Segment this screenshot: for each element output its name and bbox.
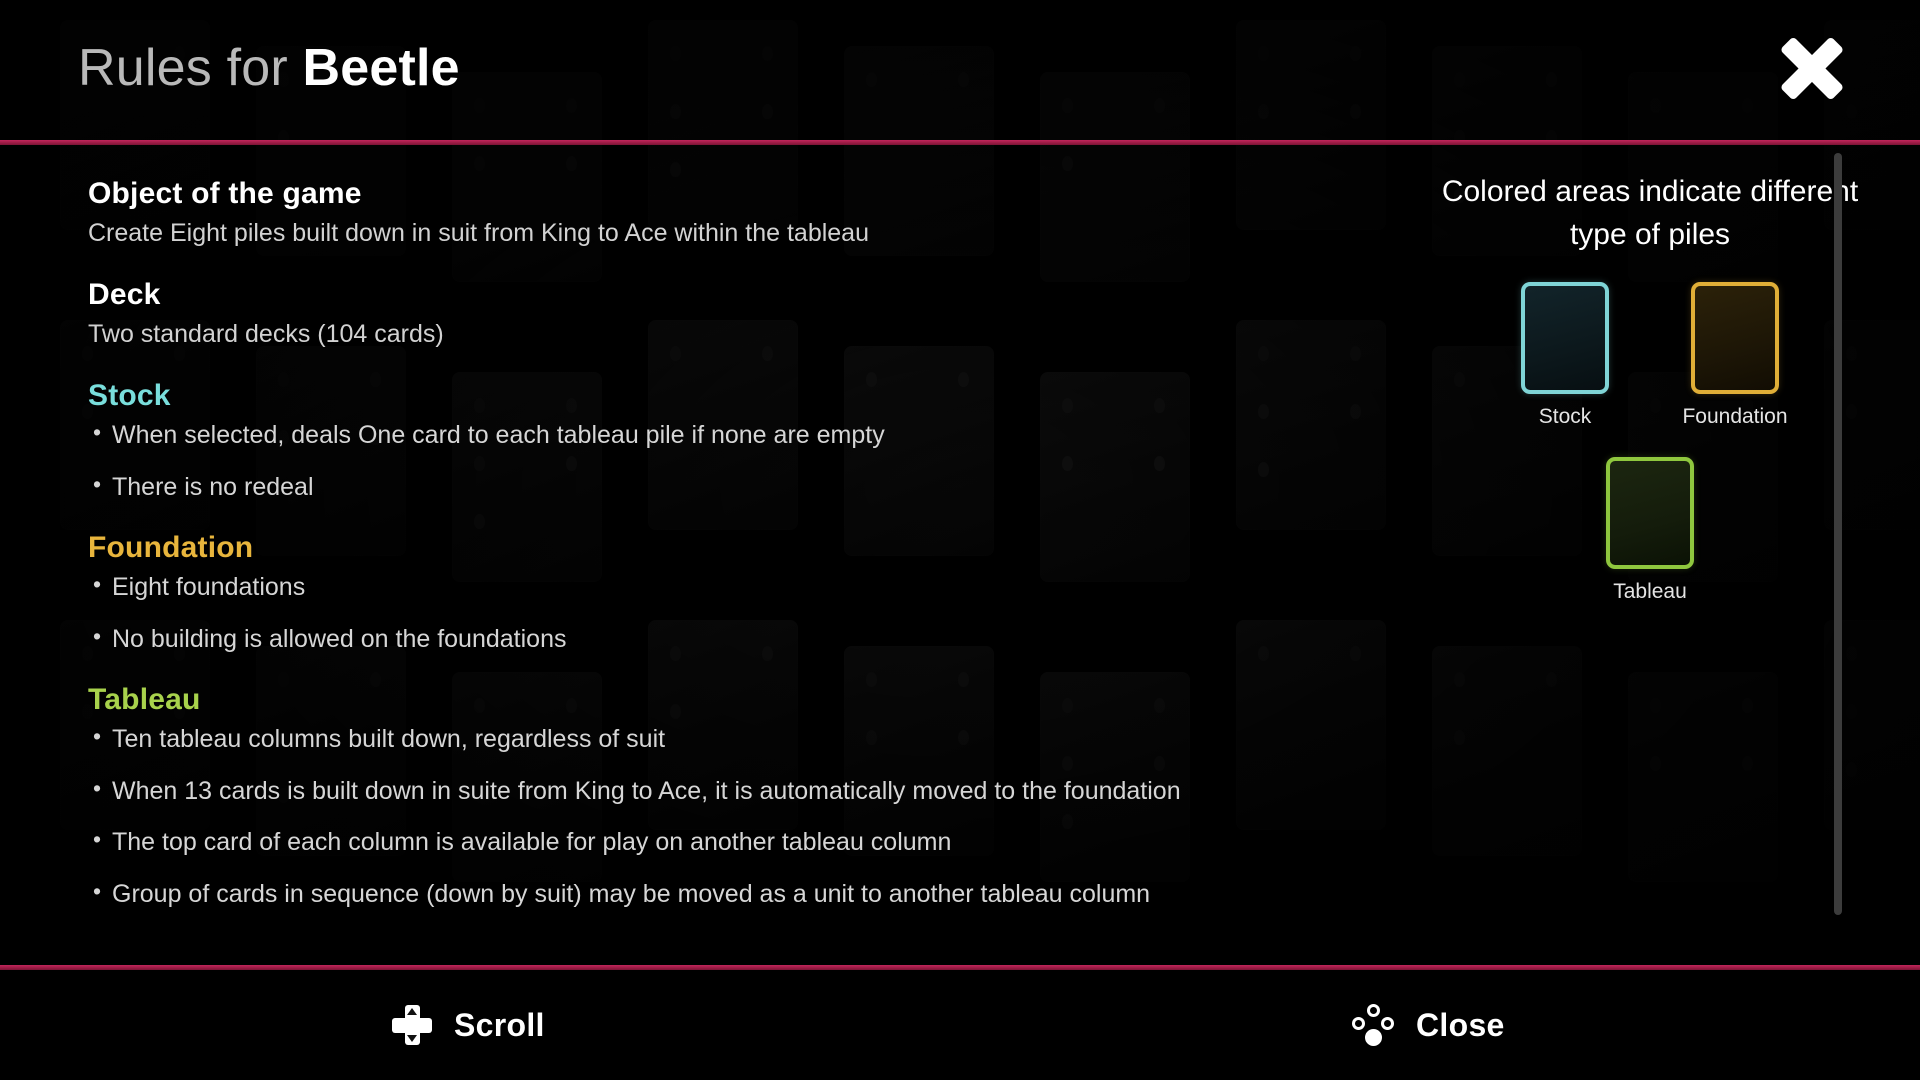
legend-item-stock: Stock xyxy=(1511,282,1619,429)
section-bullet-list: Ten tableau columns built down, regardle… xyxy=(88,723,1390,910)
section-subtitle: Two standard decks (104 cards) xyxy=(88,318,1390,351)
legend-panel: Colored areas indicate different type of… xyxy=(1430,145,1870,965)
section-heading-tableau: Tableau xyxy=(88,683,1390,717)
legend-label-stock: Stock xyxy=(1511,405,1619,429)
legend-row-top: Stock Foundation xyxy=(1430,282,1870,429)
stock-pile-swatch xyxy=(1521,282,1609,394)
legend-item-foundation: Foundation xyxy=(1681,282,1789,429)
dialog-footer: Scroll Close xyxy=(0,970,1920,1080)
rules-section: TableauTen tableau columns built down, r… xyxy=(88,683,1390,910)
rule-bullet: When selected, deals One card to each ta… xyxy=(88,419,1390,452)
dialog-header: Rules for Beetle xyxy=(0,0,1920,140)
rules-section: DeckTwo standard decks (104 cards) xyxy=(88,278,1390,351)
rule-bullet: There is no redeal xyxy=(88,471,1390,504)
section-heading-none: Object of the game xyxy=(88,177,1390,211)
tableau-pile-swatch xyxy=(1606,457,1694,569)
rules-section: Object of the gameCreate Eight piles bui… xyxy=(88,177,1390,250)
rules-dialog: Rules for Beetle Object of the gameCreat… xyxy=(0,0,1920,1080)
close-button[interactable]: Close xyxy=(1352,1004,1505,1046)
close-x-icon[interactable] xyxy=(1766,22,1858,114)
legend-title: Colored areas indicate different type of… xyxy=(1430,171,1870,256)
section-heading-none: Deck xyxy=(88,278,1390,312)
dpad-icon xyxy=(392,1005,432,1045)
rules-section: FoundationEight foundationsNo building i… xyxy=(88,531,1390,655)
rule-bullet: When 13 cards is built down in suite fro… xyxy=(88,775,1390,808)
section-bullet-list: When selected, deals One card to each ta… xyxy=(88,419,1390,503)
section-subtitle: Create Eight piles built down in suit fr… xyxy=(88,217,1390,250)
legend-row-bottom: Tableau xyxy=(1430,457,1870,604)
rule-bullet: Ten tableau columns built down, regardle… xyxy=(88,723,1390,756)
dialog-body: Object of the gameCreate Eight piles bui… xyxy=(0,145,1920,965)
legend-label-foundation: Foundation xyxy=(1681,405,1789,429)
title-prefix: Rules for xyxy=(78,39,303,97)
rule-bullet: Eight foundations xyxy=(88,571,1390,604)
section-heading-foundation: Foundation xyxy=(88,531,1390,565)
section-heading-stock: Stock xyxy=(88,379,1390,413)
scroll-button[interactable]: Scroll xyxy=(392,1005,545,1045)
rule-bullet: No building is allowed on the foundation… xyxy=(88,623,1390,656)
gamepad-buttons-icon xyxy=(1352,1004,1394,1046)
legend-label-tableau: Tableau xyxy=(1596,580,1704,604)
close-button-label: Close xyxy=(1416,1007,1505,1044)
title-game-name: Beetle xyxy=(303,39,460,97)
scroll-button-label: Scroll xyxy=(454,1007,545,1044)
page-title: Rules for Beetle xyxy=(78,38,460,98)
legend-item-tableau: Tableau xyxy=(1596,457,1704,604)
rules-section: StockWhen selected, deals One card to ea… xyxy=(88,379,1390,503)
rule-bullet: The top card of each column is available… xyxy=(88,826,1390,859)
rules-content: Object of the gameCreate Eight piles bui… xyxy=(0,145,1430,965)
section-bullet-list: Eight foundationsNo building is allowed … xyxy=(88,571,1390,655)
foundation-pile-swatch xyxy=(1691,282,1779,394)
scrollbar[interactable] xyxy=(1834,145,1842,965)
rule-bullet: Group of cards in sequence (down by suit… xyxy=(88,878,1390,911)
scrollbar-thumb[interactable] xyxy=(1834,153,1842,915)
